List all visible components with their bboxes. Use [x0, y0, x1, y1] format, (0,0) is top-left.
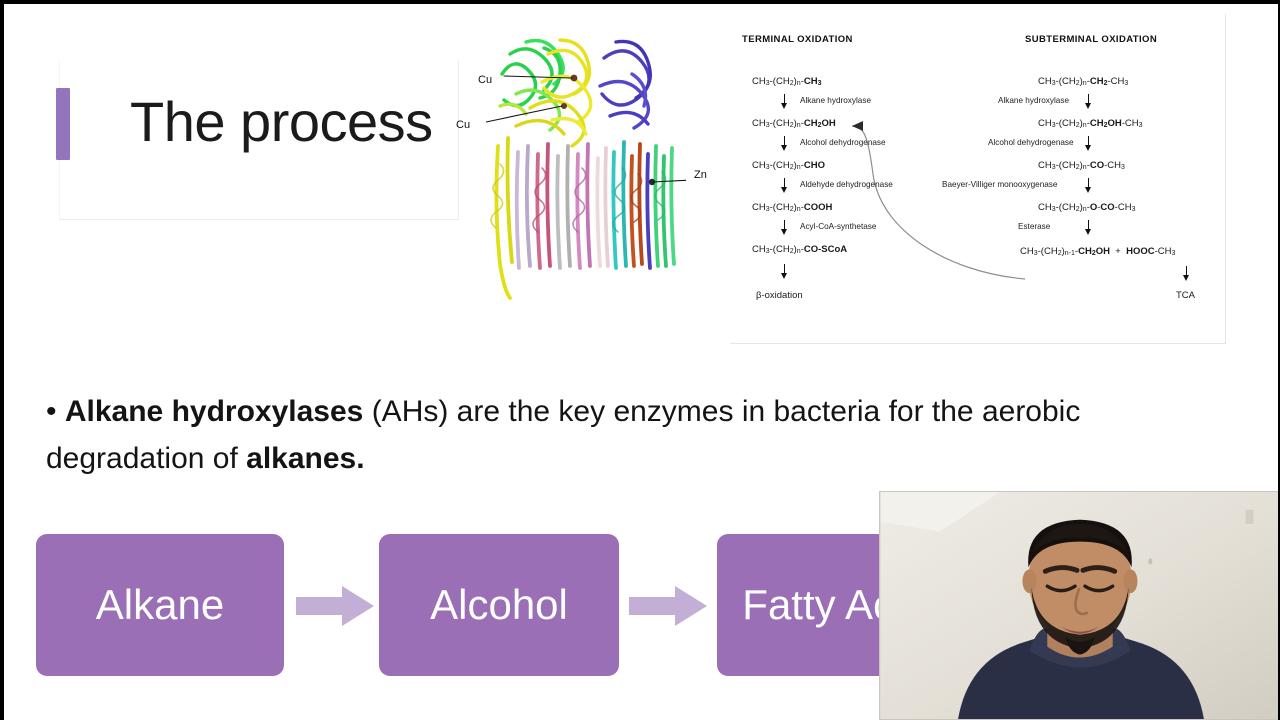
protein-structure-image: Cu Cu Zn: [456, 34, 718, 319]
page-title: The process: [130, 90, 433, 154]
flow-arrow-icon-2: [629, 586, 707, 626]
bullet-paragraph: • Alkane hydroxylases (AHs) are the key …: [46, 389, 1136, 482]
bullet-bold-tail: alkanes.: [246, 442, 364, 475]
bullet-marker: •: [46, 395, 57, 428]
flow-box-alcohol[interactable]: Alcohol: [379, 534, 619, 676]
protein-label-zn: Zn: [694, 169, 707, 181]
subterminal-compound-1: CH3-(CH2)n-CH2OH-CH3: [1038, 118, 1143, 129]
slide-stage: The process: [0, 0, 1280, 720]
heading-terminal-oxidation: TERMINAL OXIDATION: [742, 34, 853, 45]
subterminal-enzyme-3: Esterase: [1018, 222, 1050, 231]
subterminal-enzyme-1: Alcohol dehydrogenase: [988, 138, 1074, 147]
terminal-compound-5: β-oxidation: [756, 290, 803, 301]
subterminal-compound-5: TCA: [1176, 290, 1195, 301]
terminal-compound-0: CH3-(CH2)n-CH3: [752, 76, 822, 87]
flow-box-alkane[interactable]: Alkane: [36, 534, 284, 676]
terminal-compound-3: CH3-(CH2)n-COOH: [752, 202, 832, 213]
subterminal-enzyme-2: Baeyer-Villiger monooxygenase: [942, 180, 1057, 189]
terminal-compound-2: CH3-(CH2)n-CHO: [752, 160, 825, 171]
bullet-bold-lead: Alkane hydroxylases: [65, 395, 364, 428]
terminal-enzyme-0: Alkane hydroxylase: [800, 96, 871, 105]
subterminal-compound-0: CH3-(CH2)n-CH2-CH3: [1038, 76, 1128, 87]
terminal-enzyme-3: Acyl-CoA-synthetase: [800, 222, 876, 231]
subterminal-compound-4: CH3-(CH2)n-1-CH2OH + HOOC-CH3: [1020, 246, 1175, 257]
flow-arrow-icon-1: [296, 586, 374, 626]
terminal-enzyme-1: Alcohol dehydrogenase: [800, 138, 886, 147]
subterminal-compound-2: CH3-(CH2)n-CO-CH3: [1038, 160, 1125, 171]
subterminal-compound-3: CH3-(CH2)n-O-CO-CH3: [1038, 202, 1135, 213]
presenter-video-overlay[interactable]: [879, 491, 1278, 720]
title-accent-bar: [56, 88, 70, 160]
feedback-arrow-icon: [730, 14, 1226, 344]
heading-subterminal-oxidation: SUBTERMINAL OXIDATION: [1025, 34, 1157, 45]
protein-label-cu-lower: Cu: [456, 119, 470, 131]
subterminal-enzyme-0: Alkane hydroxylase: [998, 96, 1069, 105]
protein-label-cu-top: Cu: [478, 74, 492, 86]
terminal-enzyme-2: Aldehyde dehydrogenase: [800, 180, 893, 189]
terminal-compound-4: CH3-(CH2)n-CO-SCoA: [752, 244, 847, 255]
terminal-compound-1: CH3-(CH2)n-CH2OH: [752, 118, 836, 129]
oxidation-pathway-diagram: TERMINAL OXIDATION SUBTERMINAL OXIDATION…: [730, 14, 1226, 344]
slide-surface: The process: [4, 4, 1278, 720]
